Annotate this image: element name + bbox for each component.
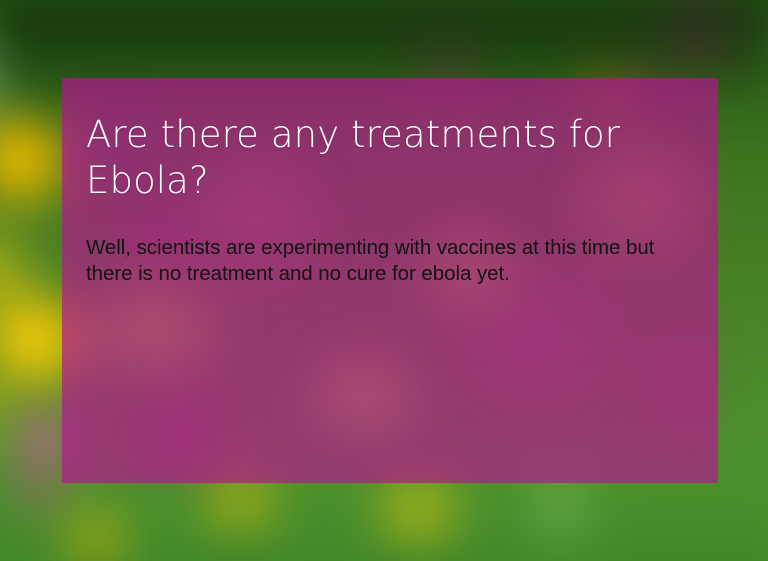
slide-body-text: Well, scientists are experimenting with … bbox=[86, 235, 692, 287]
panel-content: Are there any treatments for Ebola? Well… bbox=[86, 112, 692, 287]
slide-title: Are there any treatments for Ebola? bbox=[86, 112, 626, 204]
presentation-slide: Are there any treatments for Ebola? Well… bbox=[0, 0, 768, 561]
content-overlay-panel: Are there any treatments for Ebola? Well… bbox=[62, 78, 718, 483]
